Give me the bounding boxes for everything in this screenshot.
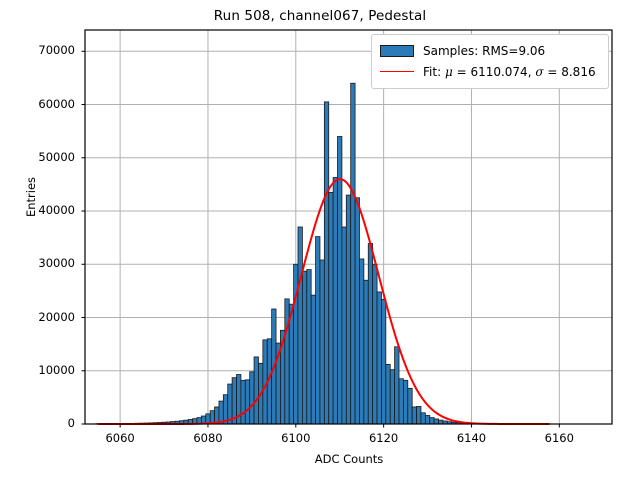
chart-legend: Samples: RMS=9.06 Fit: μ = 6110.074, σ =… [371, 34, 609, 89]
x-tick-label: 6160 [529, 431, 589, 445]
y-tick-label: 10000 [5, 363, 75, 377]
y-tick-label: 30000 [5, 256, 75, 270]
legend-line-swatch-icon [380, 71, 414, 72]
y-tick-label: 50000 [5, 150, 75, 164]
legend-label-fit: Fit: μ = 6110.074, σ = 8.816 [423, 65, 596, 79]
y-tick-label: 20000 [5, 310, 75, 324]
y-tick-label: 70000 [5, 43, 75, 57]
x-tick-label: 6060 [90, 431, 150, 445]
legend-item-fit: Fit: μ = 6110.074, σ = 8.816 [380, 61, 600, 82]
x-tick-label: 6120 [354, 431, 414, 445]
chart-figure: Run 508, channel067, Pedestal Entries AD… [0, 0, 640, 480]
legend-fit-sigma: 8.816 [561, 65, 595, 79]
legend-item-samples: Samples: RMS=9.06 [380, 40, 600, 61]
y-tick-label: 0 [5, 416, 75, 430]
x-tick-label: 6140 [441, 431, 501, 445]
legend-label-samples: Samples: RMS=9.06 [423, 44, 545, 58]
y-tick-label: 60000 [5, 97, 75, 111]
x-tick-label: 6080 [178, 431, 238, 445]
legend-bar-swatch-icon [380, 45, 414, 57]
x-tick-label: 6100 [266, 431, 326, 445]
legend-fit-mu: 6110.074 [470, 65, 527, 79]
y-tick-label: 40000 [5, 203, 75, 217]
